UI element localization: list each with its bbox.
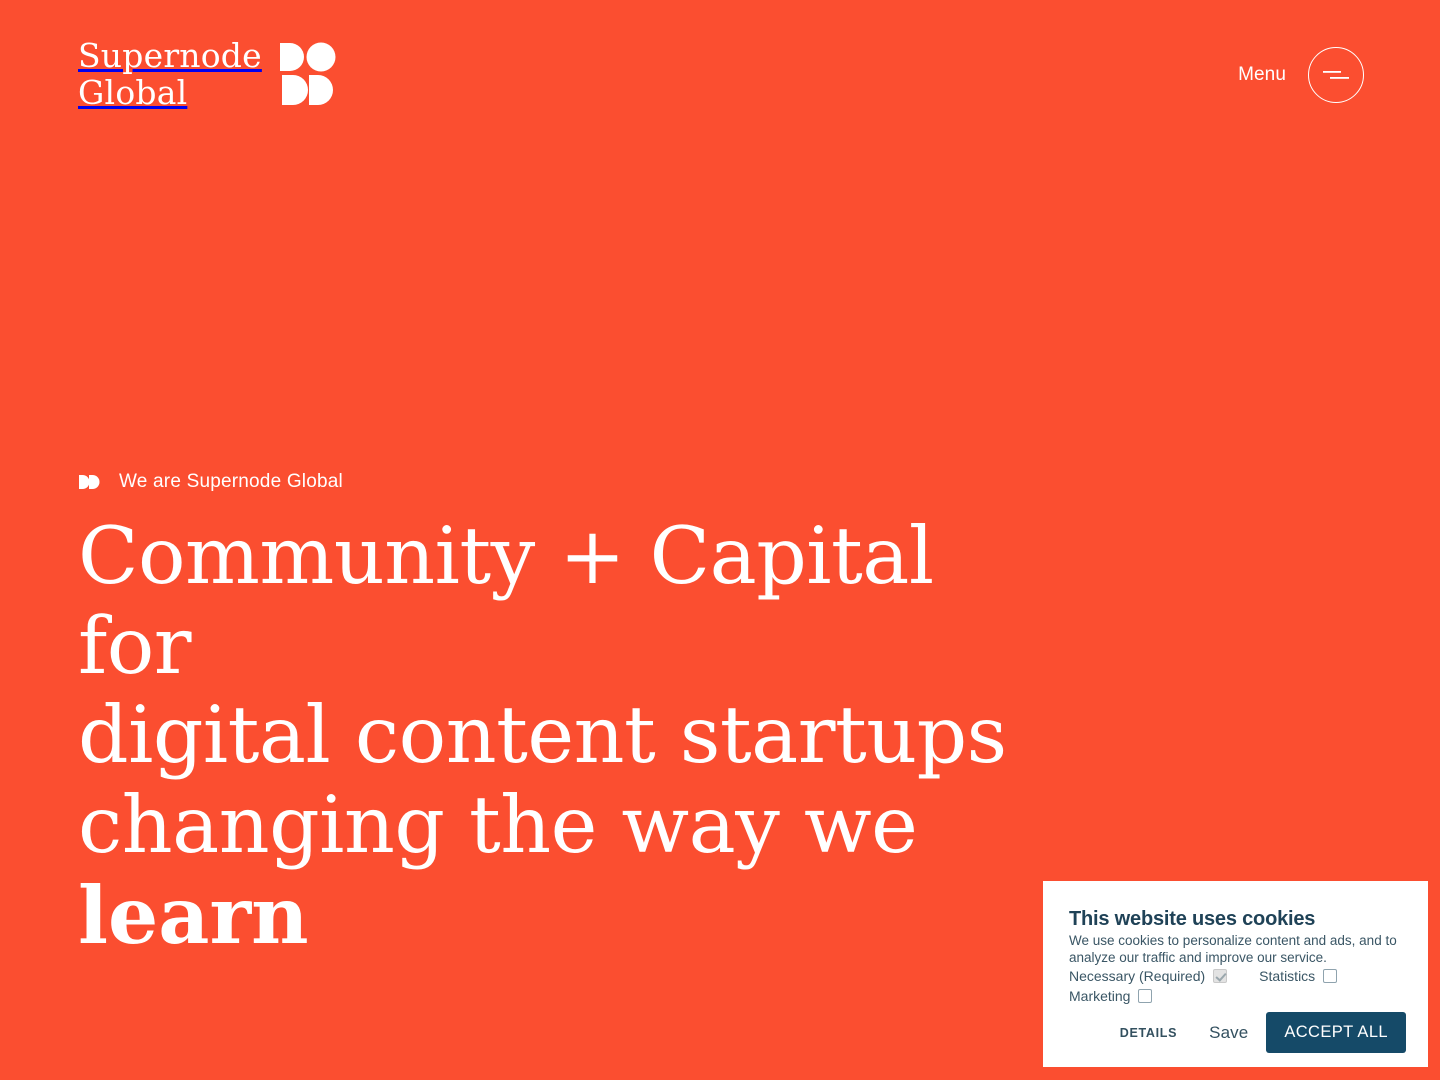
cookie-checkbox-necessary: [1213, 969, 1227, 983]
headline-accent: learn: [78, 869, 309, 962]
hero-section: We are Supernode Global Community + Capi…: [78, 470, 1178, 961]
site-header: Supernode Global Menu: [0, 0, 1440, 150]
menu-group: Menu: [1238, 47, 1364, 103]
cookie-checkbox-statistics[interactable]: [1323, 969, 1337, 983]
cookie-option-marketing-label: Marketing: [1069, 988, 1130, 1005]
cookie-consent-banner: This website uses cookies We use cookies…: [1043, 881, 1428, 1067]
menu-label[interactable]: Menu: [1238, 64, 1286, 86]
hamburger-two-line-icon: [1321, 66, 1351, 84]
supernode-mark-icon: [280, 41, 336, 109]
cookie-option-marketing[interactable]: Marketing: [1069, 988, 1152, 1005]
cookie-options-group: Necessary (Required) Statistics Marketin…: [1069, 968, 1406, 1005]
cookie-option-statistics-label: Statistics: [1259, 968, 1315, 985]
accept-all-button[interactable]: ACCEPT ALL: [1266, 1012, 1406, 1053]
details-button[interactable]: DETAILS: [1110, 1018, 1187, 1048]
cookie-option-necessary: Necessary (Required): [1069, 968, 1227, 985]
cookie-banner-body: We use cookies to personalize content an…: [1069, 932, 1406, 966]
cookie-checkbox-marketing[interactable]: [1138, 989, 1152, 1003]
brand-logo-link[interactable]: Supernode Global: [78, 38, 336, 112]
page-title: Community + Capital for digital content …: [78, 512, 1068, 961]
cookie-banner-title: This website uses cookies: [1069, 907, 1406, 931]
hero-eyebrow-text: We are Supernode Global: [119, 471, 343, 493]
cookie-option-necessary-label: Necessary (Required): [1069, 968, 1205, 985]
cookie-option-statistics[interactable]: Statistics: [1259, 968, 1337, 985]
hero-eyebrow: We are Supernode Global: [78, 470, 1178, 494]
cookie-banner-actions: DETAILS Save ACCEPT ALL: [1069, 1012, 1406, 1053]
menu-toggle-button[interactable]: [1308, 47, 1364, 103]
double-d-icon: [78, 470, 102, 494]
save-button[interactable]: Save: [1187, 1015, 1266, 1051]
page-root: Supernode Global Menu: [0, 0, 1440, 1080]
headline-plain: Community + Capital for digital content …: [78, 510, 1007, 871]
brand-wordmark: Supernode Global: [78, 38, 262, 112]
